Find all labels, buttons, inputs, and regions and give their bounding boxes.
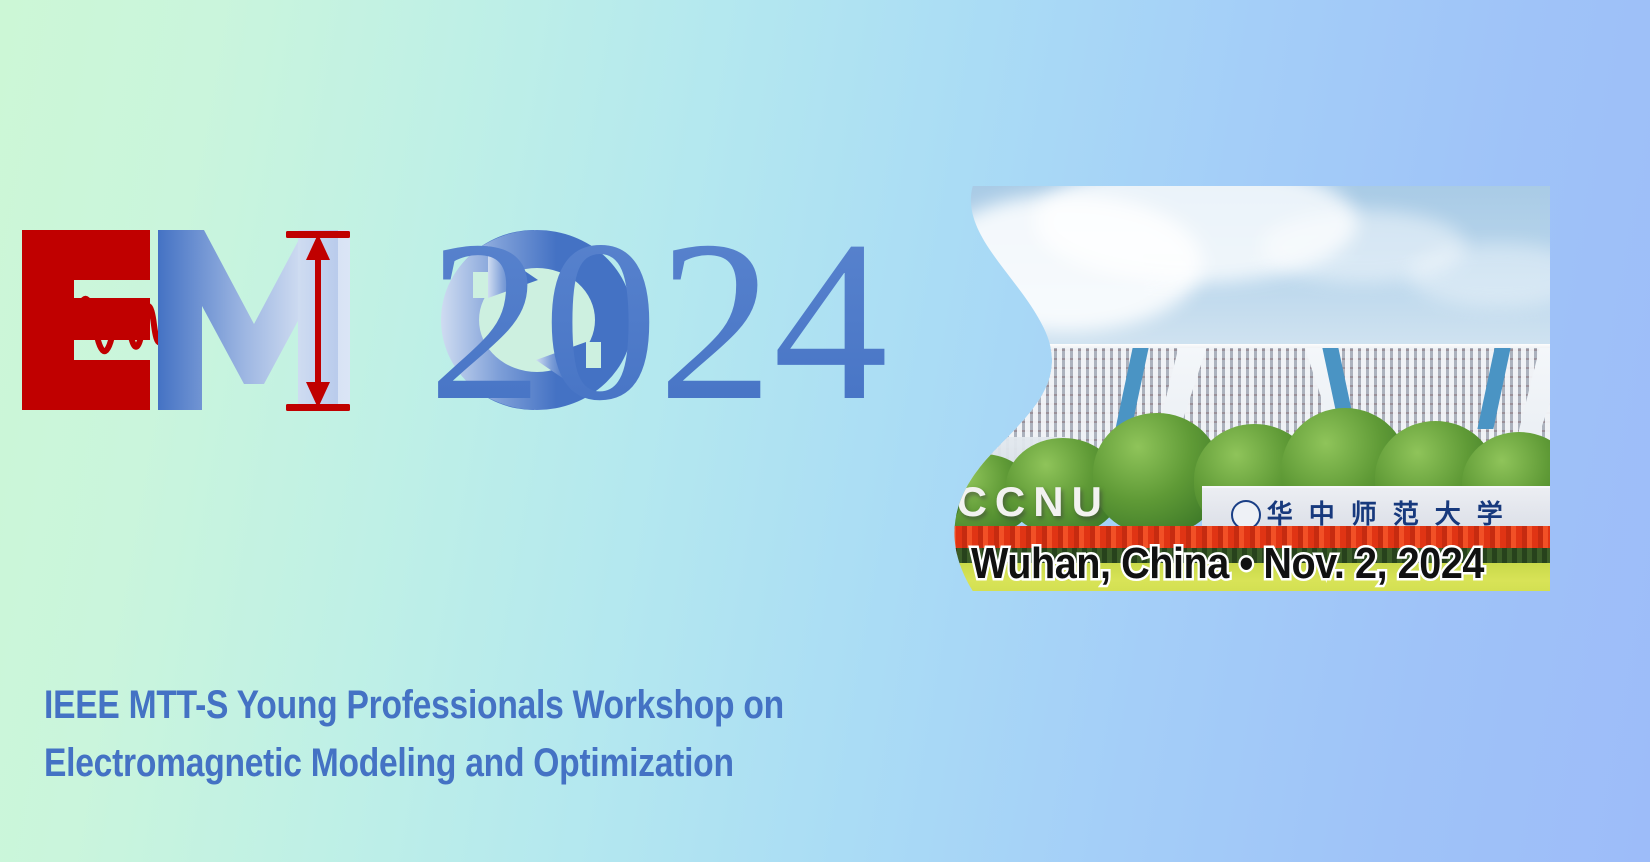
emo-2024-logo: 2024 [18, 228, 918, 418]
emo-2024-logo-svg: 2024 [18, 228, 918, 418]
logo-year: 2024 [428, 228, 888, 418]
workshop-subtitle: IEEE MTT-S Young Professionals Workshop … [44, 676, 783, 792]
branding-block: 2024 IEEE MTT-S Young Professionals Work… [18, 228, 918, 418]
venue-photo-panel: 华中师范大学 CCNU Wuhan, China • Nov. 2, 2024 [905, 186, 1550, 591]
event-banner: 2024 IEEE MTT-S Young Professionals Work… [0, 0, 1650, 862]
photo-tree [905, 471, 959, 534]
subtitle-line-2: Electromagnetic Modeling and Optimizatio… [44, 734, 783, 792]
location-date-caption: Wuhan, China • Nov. 2, 2024 [937, 541, 1518, 587]
wall-chinese-name: 华中师范大学 [1267, 494, 1519, 531]
ccnu-sculpture-letters: CCNU [957, 470, 1202, 535]
venue-photo-image: 华中师范大学 CCNU Wuhan, China • Nov. 2, 2024 [905, 186, 1550, 591]
photo-building-accent [961, 348, 994, 429]
subtitle-line-1: IEEE MTT-S Young Professionals Workshop … [44, 676, 783, 734]
